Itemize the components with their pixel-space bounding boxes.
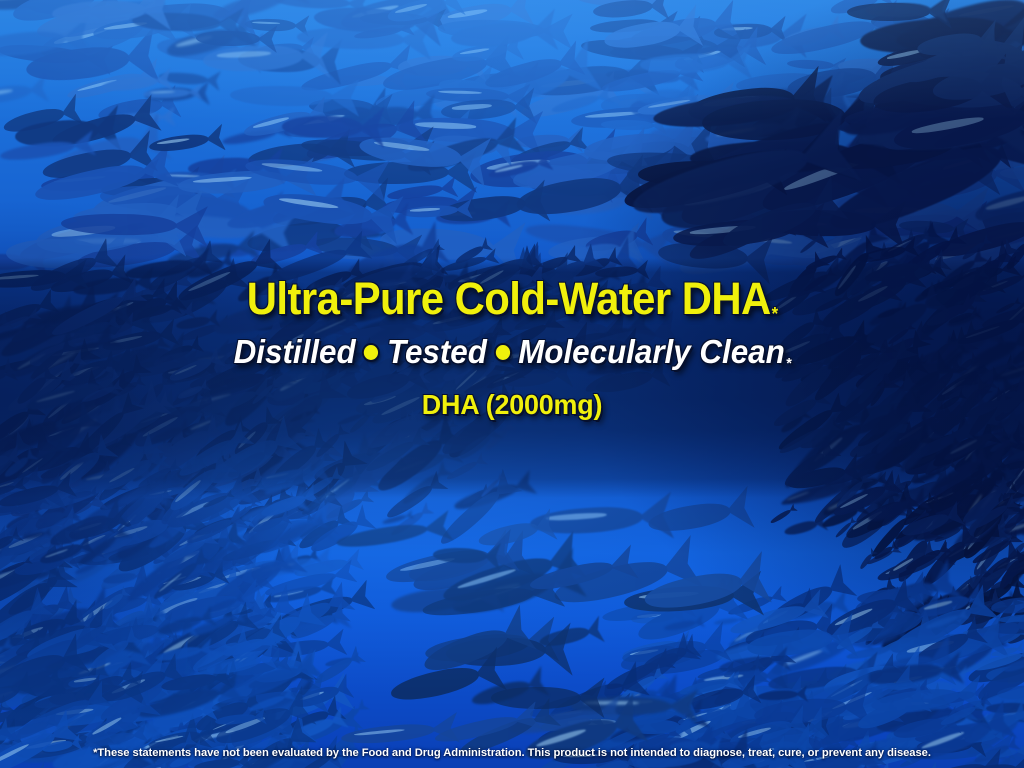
page-title: Ultra-Pure Cold-Water DHA* [36, 276, 988, 323]
headline-text: Ultra-Pure Cold-Water DHA [247, 273, 771, 324]
benefit-item-2: Tested [387, 333, 487, 370]
bullet-separator-icon [495, 345, 509, 360]
banner-stage: Ultra-Pure Cold-Water DHA* DistilledTest… [0, 0, 1024, 768]
benefit-item-1: Distilled [234, 333, 356, 370]
bullet-separator-icon [364, 345, 378, 360]
benefit-item-3: Molecularly Clean [518, 333, 785, 370]
benefits-subtitle: DistilledTestedMolecularly Clean* [26, 335, 999, 370]
dosage-label: DHA (2000mg) [20, 389, 1003, 421]
fda-disclaimer: *These statements have not been evaluate… [0, 747, 1024, 759]
headline-block: Ultra-Pure Cold-Water DHA* DistilledTest… [0, 276, 1024, 421]
water-surface-shimmer [0, 0, 1024, 120]
subline-asterisk-mark: * [786, 355, 792, 372]
headline-asterisk-mark: * [772, 304, 779, 324]
